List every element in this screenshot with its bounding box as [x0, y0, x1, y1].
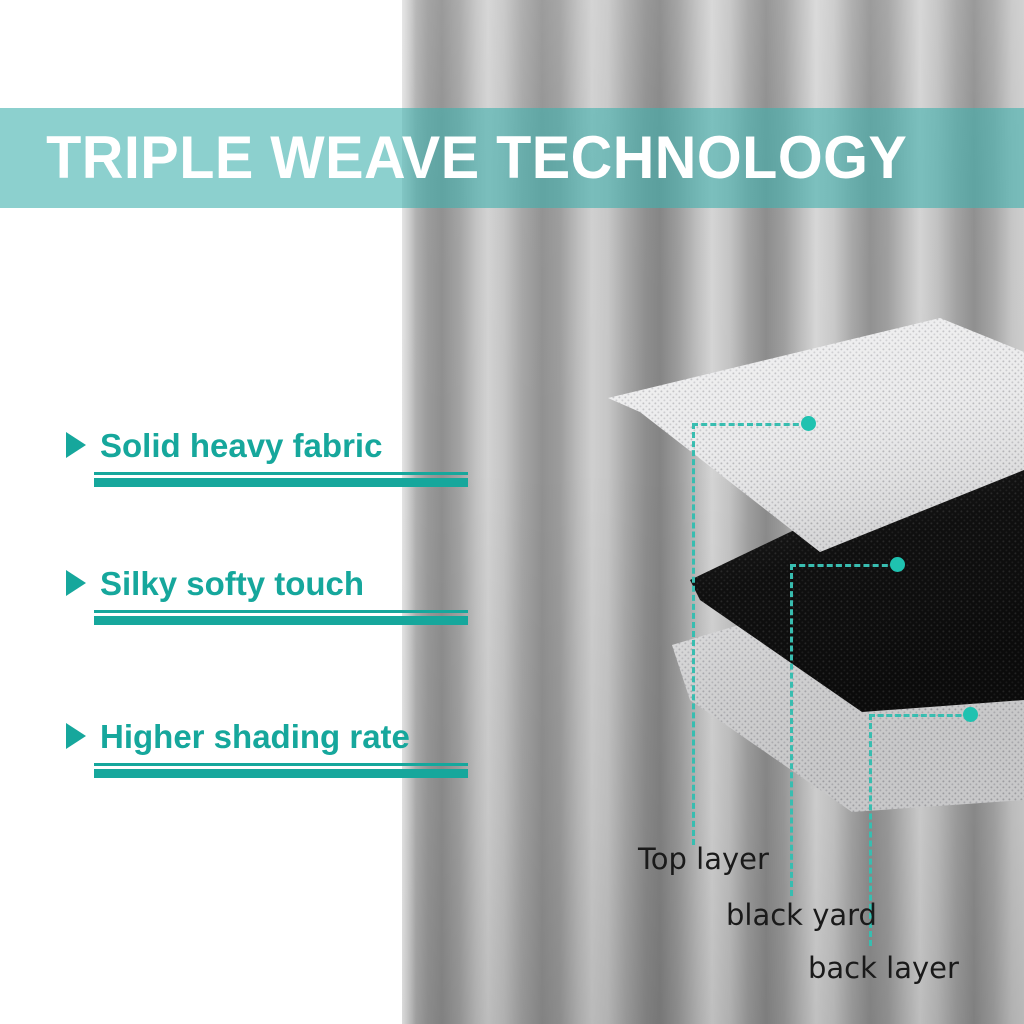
callout-label-top-layer: Top layer	[638, 845, 769, 874]
triangle-right-icon	[66, 432, 86, 458]
leader-line-back-layer-horizontal	[869, 714, 970, 717]
rule-thick	[94, 616, 468, 625]
page-title: TRIPLE WEAVE TECHNOLOGY	[0, 128, 907, 188]
rule-thick	[94, 769, 468, 778]
feature-label: Silky softy touch	[100, 567, 364, 600]
triangle-right-icon	[66, 723, 86, 749]
marker-dot-top-layer	[801, 416, 816, 431]
feature-label: Higher shading rate	[100, 720, 410, 753]
feature-underline-2	[94, 610, 468, 625]
marker-dot-black-yard	[890, 557, 905, 572]
leader-line-black-yard-vertical	[790, 564, 793, 896]
callout-label-back-layer: back layer	[808, 954, 959, 983]
rule-thin	[94, 763, 468, 766]
triangle-right-icon	[66, 570, 86, 596]
rule-thick	[94, 478, 468, 487]
rule-thin	[94, 610, 468, 613]
leader-line-black-yard-horizontal	[790, 564, 897, 567]
feature-item-silky-softy-touch[interactable]: Silky softy touch	[66, 562, 476, 604]
callout-label-black-yard: black yard	[726, 901, 877, 930]
feature-label: Solid heavy fabric	[100, 429, 382, 462]
feature-underline-1	[94, 472, 468, 487]
feature-item-higher-shading-rate[interactable]: Higher shading rate	[66, 715, 476, 757]
rule-thin	[94, 472, 468, 475]
feature-item-solid-heavy-fabric[interactable]: Solid heavy fabric	[66, 424, 476, 466]
marker-dot-back-layer	[963, 707, 978, 722]
feature-underline-3	[94, 763, 468, 778]
leader-line-top-layer-horizontal	[692, 423, 808, 426]
title-banner: TRIPLE WEAVE TECHNOLOGY	[0, 108, 1024, 208]
infographic-page: TRIPLE WEAVE TECHNOLOGY Solid heavy fabr…	[0, 0, 1024, 1024]
leader-line-top-layer-vertical	[692, 423, 695, 845]
